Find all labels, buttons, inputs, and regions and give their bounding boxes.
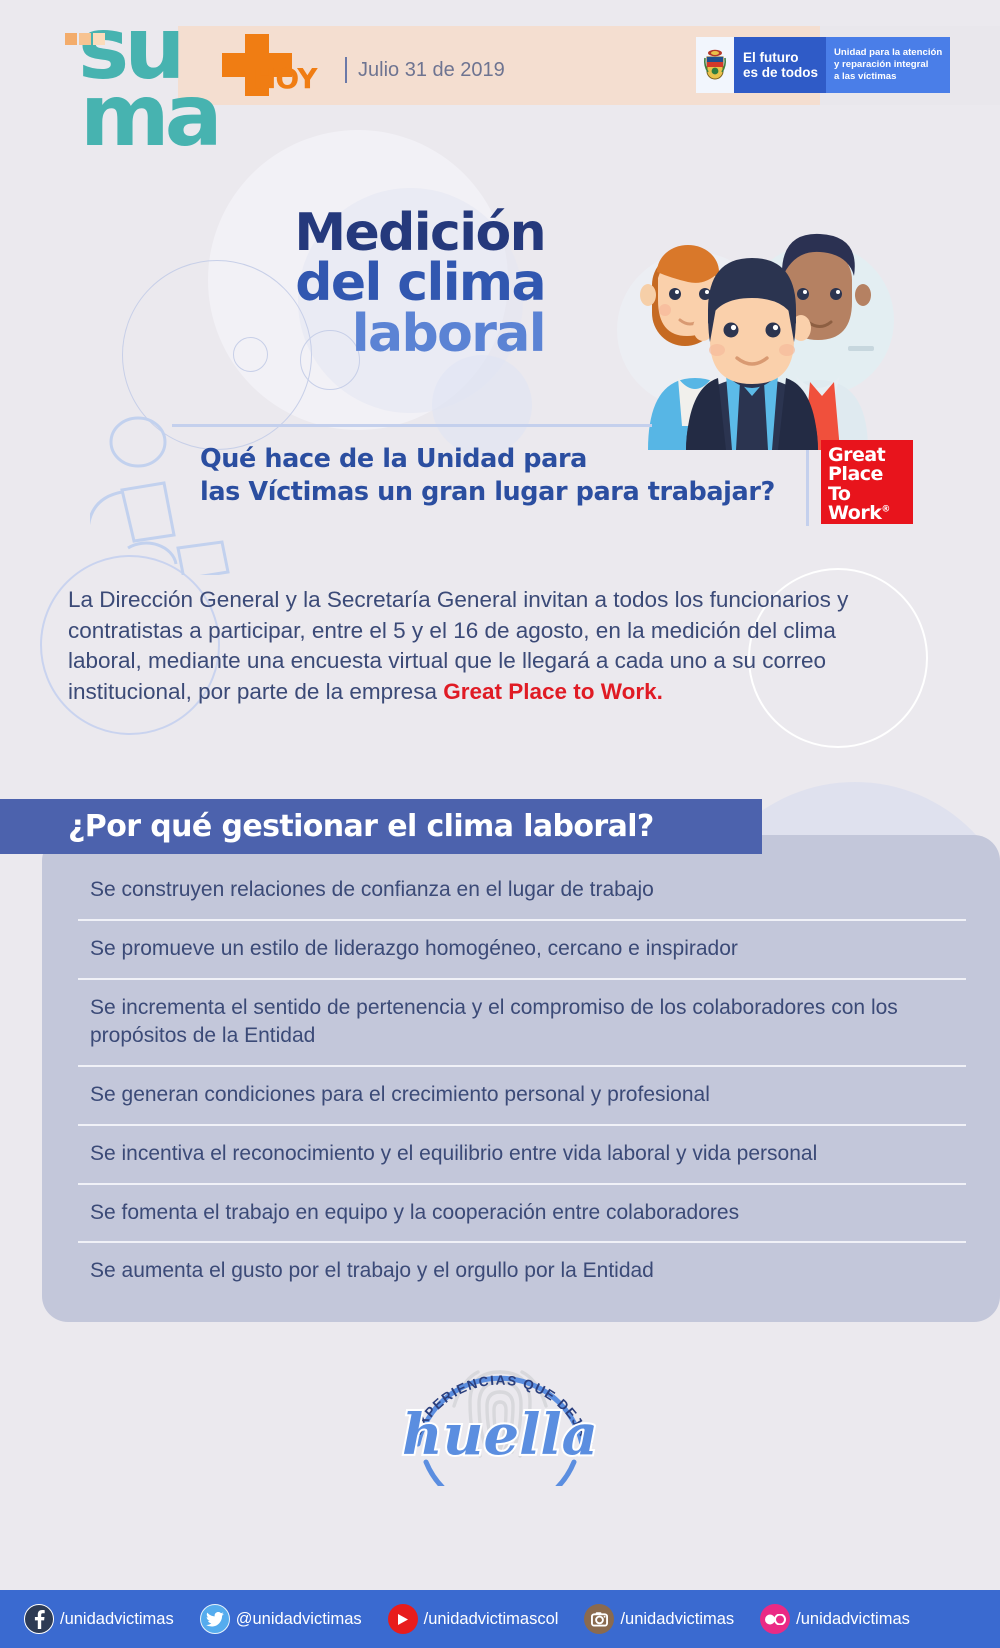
gov-brand-line1: El futuro — [743, 50, 799, 65]
twitter-icon[interactable] — [200, 1604, 230, 1634]
flickr-icon[interactable] — [760, 1604, 790, 1634]
entity-line1: Unidad para la atención — [834, 47, 942, 58]
list-item: Se incentiva el reconocimiento y el equi… — [78, 1124, 966, 1183]
facebook-icon[interactable] — [24, 1604, 54, 1634]
social-link-facebook[interactable]: /unidadvictimas — [24, 1604, 174, 1634]
flickr-handle: /unidadvictimas — [796, 1610, 910, 1629]
question-heading: Qué hace de la Unidad para las Víctimas … — [200, 443, 820, 508]
huella-logo: EXPERIENCIAS QUE DEJAN huella — [392, 1336, 608, 1486]
colombia-coat-of-arms-icon — [696, 37, 734, 93]
orange-square-decoration — [65, 33, 77, 45]
facebook-handle: /unidadvictimas — [60, 1610, 174, 1629]
social-link-youtube[interactable]: /unidadvictimascol — [388, 1604, 559, 1634]
svg-text:huella: huella — [402, 1402, 598, 1468]
gov-brand-line2: es de todos — [743, 65, 818, 80]
hoy-label: HOY — [253, 62, 317, 95]
date-block: Julio 31 de 2019 — [345, 57, 505, 83]
date-text: Julio 31 de 2019 — [358, 59, 505, 82]
great-place-to-work-logo: Great Place To Work® — [821, 440, 913, 524]
instagram-icon[interactable] — [584, 1604, 614, 1634]
social-link-twitter[interactable]: @unidadvictimas — [200, 1604, 362, 1634]
list-item: Se construyen relaciones de confianza en… — [78, 862, 966, 919]
title-line-3: laboral — [0, 309, 545, 359]
why-section-header: ¿Por qué gestionar el clima laboral? — [0, 799, 762, 854]
title-line-1: Medición — [0, 208, 545, 258]
government-logos: El futuro es de todos Unidad para la ate… — [696, 37, 950, 93]
three-coworkers-illustration — [600, 160, 900, 450]
youtube-icon[interactable] — [388, 1604, 418, 1634]
list-item: Se fomenta el trabajo en equipo y la coo… — [78, 1183, 966, 1242]
gptw-line-4: Work — [828, 502, 881, 524]
list-item: Se aumenta el gusto por el trabajo y el … — [78, 1241, 966, 1300]
question-line-1: Qué hace de la Unidad para — [200, 444, 587, 474]
entity-line3: a las víctimas — [834, 71, 896, 82]
twitter-handle: @unidadvictimas — [236, 1610, 362, 1629]
list-item: Se promueve un estilo de liderazgo homog… — [78, 919, 966, 978]
infographic-page: su ma HOY Julio 31 de 2019 El futu — [0, 0, 1000, 1648]
social-footer: /unidadvictimas @unidadvictimas /unidadv… — [0, 1590, 1000, 1648]
question-rule — [172, 424, 652, 427]
instagram-handle: /unidadvictimas — [620, 1610, 734, 1629]
page-title: Medición del clima laboral — [0, 208, 545, 359]
decorative-circle — [432, 355, 532, 455]
suma-logo-line2: ma — [80, 83, 218, 150]
orange-square-decoration — [79, 33, 91, 45]
registered-mark: ® — [881, 505, 890, 515]
orange-square-decoration — [93, 33, 105, 45]
question-divider — [806, 450, 809, 526]
intro-paragraph: La Dirección General y la Secretaría Gen… — [68, 585, 858, 707]
entity-line2: y reparación integral — [834, 59, 928, 70]
intro-paragraph-highlight: Great Place to Work. — [443, 679, 663, 704]
list-item: Se incrementa el sentido de pertenencia … — [78, 978, 966, 1065]
social-link-instagram[interactable]: /unidadvictimas — [584, 1604, 734, 1634]
date-divider — [345, 57, 347, 83]
gov-brand-block: El futuro es de todos — [734, 37, 826, 93]
why-section-title: ¿Por qué gestionar el clima laboral? — [0, 809, 654, 844]
youtube-handle: /unidadvictimascol — [424, 1610, 559, 1629]
why-benefits-list: Se construyen relaciones de confianza en… — [78, 862, 966, 1300]
title-line-2: del clima — [0, 258, 545, 308]
question-line-2: las Víctimas un gran lugar para trabajar… — [200, 477, 775, 507]
list-item: Se generan condiciones para el crecimien… — [78, 1065, 966, 1124]
social-link-flickr[interactable]: /unidadvictimas — [760, 1604, 910, 1634]
entity-brand-block: Unidad para la atención y reparación int… — [826, 37, 950, 93]
